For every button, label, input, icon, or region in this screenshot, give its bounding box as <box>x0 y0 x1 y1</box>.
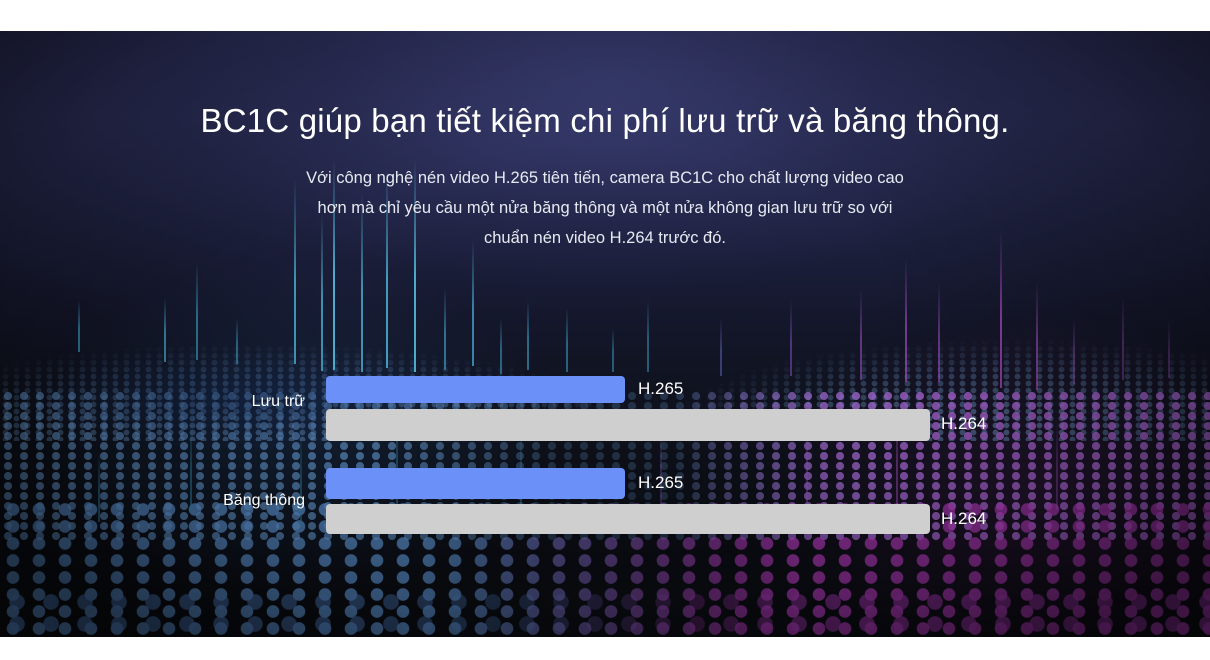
bar-bandwidth-h264 <box>326 504 930 534</box>
bar-label-bandwidth-h265: H.265 <box>638 473 683 493</box>
bar-bandwidth-h265 <box>326 468 625 499</box>
promo-banner: BC1C giúp bạn tiết kiệm chi phí lưu trữ … <box>0 31 1210 637</box>
chart-group-label-bandwidth: Băng thông <box>150 492 305 510</box>
bar-label-storage-h265: H.265 <box>638 379 683 399</box>
bar-storage-h265 <box>326 376 625 403</box>
bar-storage-h264 <box>326 409 930 441</box>
bar-label-bandwidth-h264: H.264 <box>941 509 986 529</box>
bar-label-storage-h264: H.264 <box>941 414 986 434</box>
page-root: BC1C giúp bạn tiết kiệm chi phí lưu trữ … <box>0 0 1210 660</box>
chart-group-label-storage: Lưu trữ <box>150 393 305 411</box>
comparison-bar-chart: Lưu trữ H.265 H.264 Băng thông H.265 H.2… <box>0 31 1210 637</box>
